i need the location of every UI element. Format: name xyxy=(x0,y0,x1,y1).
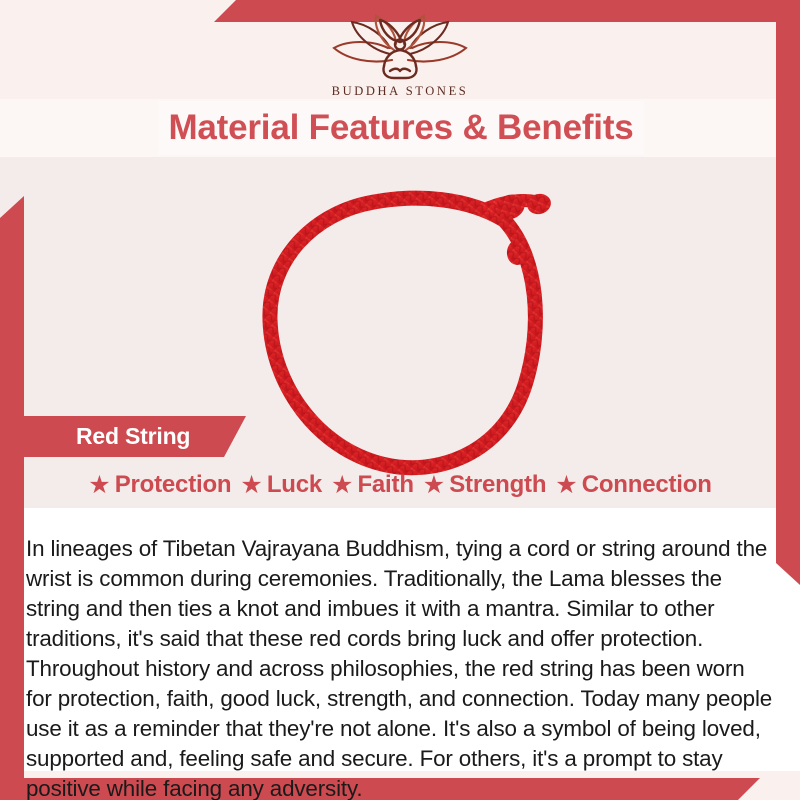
star-icon: ★ xyxy=(555,473,577,498)
benefit-item-connection: ★ Connection xyxy=(555,471,711,499)
benefit-item-faith: ★ Faith xyxy=(331,471,414,499)
ribbon-label: Red String xyxy=(76,423,190,450)
star-icon: ★ xyxy=(423,473,445,498)
decor-left-stripe xyxy=(0,196,24,800)
product-image xyxy=(252,160,592,490)
product-ribbon: Red String xyxy=(24,416,246,457)
brand-name: BUDDHA STONES xyxy=(0,84,800,99)
benefit-item-protection: ★ Protection xyxy=(88,471,231,499)
star-icon: ★ xyxy=(331,473,353,498)
brand-logo: BUDDHA STONES xyxy=(0,14,800,99)
cord-knot xyxy=(492,190,553,266)
benefit-label: Luck xyxy=(267,471,322,499)
lotus-meditation-icon xyxy=(320,14,480,82)
cord-loop-shade xyxy=(270,198,535,467)
star-icon: ★ xyxy=(240,473,262,498)
title-plate: Material Features & Benefits xyxy=(158,101,644,155)
benefit-label: Protection xyxy=(115,471,232,499)
benefits-row: ★ Protection ★ Luck ★ Faith ★ Strength ★… xyxy=(24,466,776,504)
benefit-label: Faith xyxy=(357,471,413,499)
benefit-item-luck: ★ Luck xyxy=(240,471,322,499)
description-text: In lineages of Tibetan Vajrayana Buddhis… xyxy=(26,534,776,800)
benefit-label: Connection xyxy=(582,471,712,499)
page-title: Material Features & Benefits xyxy=(168,108,633,148)
benefit-item-strength: ★ Strength xyxy=(423,471,546,499)
benefit-label: Strength xyxy=(449,471,546,499)
red-string-bracelet-illustration xyxy=(252,160,592,490)
infographic-card: BUDDHA STONES Material Features & Benefi… xyxy=(0,0,800,800)
star-icon: ★ xyxy=(88,473,110,498)
